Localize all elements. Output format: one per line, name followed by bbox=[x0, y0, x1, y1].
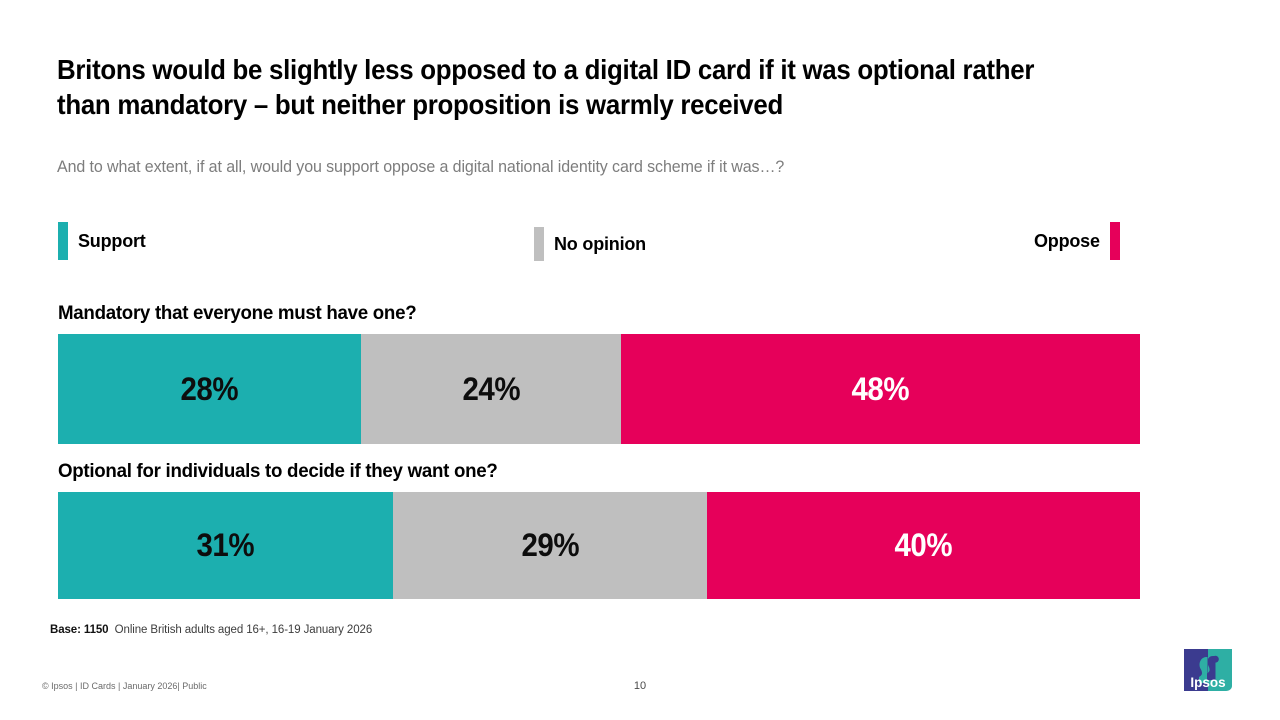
bar-value-oppose-optional: 40% bbox=[895, 527, 953, 564]
base-label: Base: 1150 bbox=[50, 624, 108, 636]
slide: Britons would be slightly less opposed t… bbox=[0, 0, 1280, 720]
ipsos-logo-icon: Ipsos bbox=[1182, 647, 1234, 693]
legend-swatch-support-icon bbox=[58, 222, 68, 260]
legend-label-oppose: Oppose bbox=[1034, 231, 1100, 252]
bar-segment-oppose-mandatory[interactable]: 48% bbox=[621, 334, 1140, 444]
legend-item-oppose[interactable]: Oppose bbox=[1034, 222, 1120, 260]
bar-segment-no-opinion-optional[interactable]: 29% bbox=[393, 492, 707, 599]
bar-segment-oppose-optional[interactable]: 40% bbox=[707, 492, 1140, 599]
question-subtitle: And to what extent, if at all, would you… bbox=[57, 158, 1114, 177]
bar-group-mandatory: Mandatory that everyone must have one? 2… bbox=[58, 302, 1140, 444]
page-number: 10 bbox=[612, 680, 668, 692]
base-footnote: Base: 1150 Online British adults aged 16… bbox=[50, 624, 372, 636]
ipsos-logo: Ipsos bbox=[1182, 647, 1234, 693]
bar-segment-support-mandatory[interactable]: 28% bbox=[58, 334, 361, 444]
bar-segment-no-opinion-mandatory[interactable]: 24% bbox=[361, 334, 621, 444]
bar-group-optional: Optional for individuals to decide if th… bbox=[58, 460, 1140, 599]
page-title: Britons would be slightly less opposed t… bbox=[57, 52, 1072, 122]
base-description: Online British adults aged 16+, 16-19 Ja… bbox=[115, 624, 372, 636]
footer-copyright: © Ipsos | ID Cards | January 2026| Publi… bbox=[42, 681, 207, 691]
bar-value-support-mandatory: 28% bbox=[181, 371, 239, 408]
bar-value-no-opinion-mandatory: 24% bbox=[462, 371, 520, 408]
legend-swatch-no-opinion-icon bbox=[534, 227, 544, 261]
legend-item-support[interactable]: Support bbox=[58, 222, 146, 260]
legend-label-no-opinion: No opinion bbox=[554, 234, 646, 255]
legend-swatch-oppose-icon bbox=[1110, 222, 1120, 260]
stacked-bar-optional: 31% 29% 40% bbox=[58, 492, 1140, 599]
stacked-bar-mandatory: 28% 24% 48% bbox=[58, 334, 1140, 444]
bar-value-no-opinion-optional: 29% bbox=[522, 527, 580, 564]
svg-text:Ipsos: Ipsos bbox=[1190, 675, 1225, 690]
bar-label-optional: Optional for individuals to decide if th… bbox=[58, 460, 1097, 483]
bar-value-oppose-mandatory: 48% bbox=[852, 371, 910, 408]
bar-segment-support-optional[interactable]: 31% bbox=[58, 492, 393, 599]
bar-label-mandatory: Mandatory that everyone must have one? bbox=[58, 302, 1097, 325]
bar-value-support-optional: 31% bbox=[197, 527, 255, 564]
legend-item-no-opinion[interactable]: No opinion bbox=[534, 227, 646, 261]
legend-label-support: Support bbox=[78, 231, 146, 252]
